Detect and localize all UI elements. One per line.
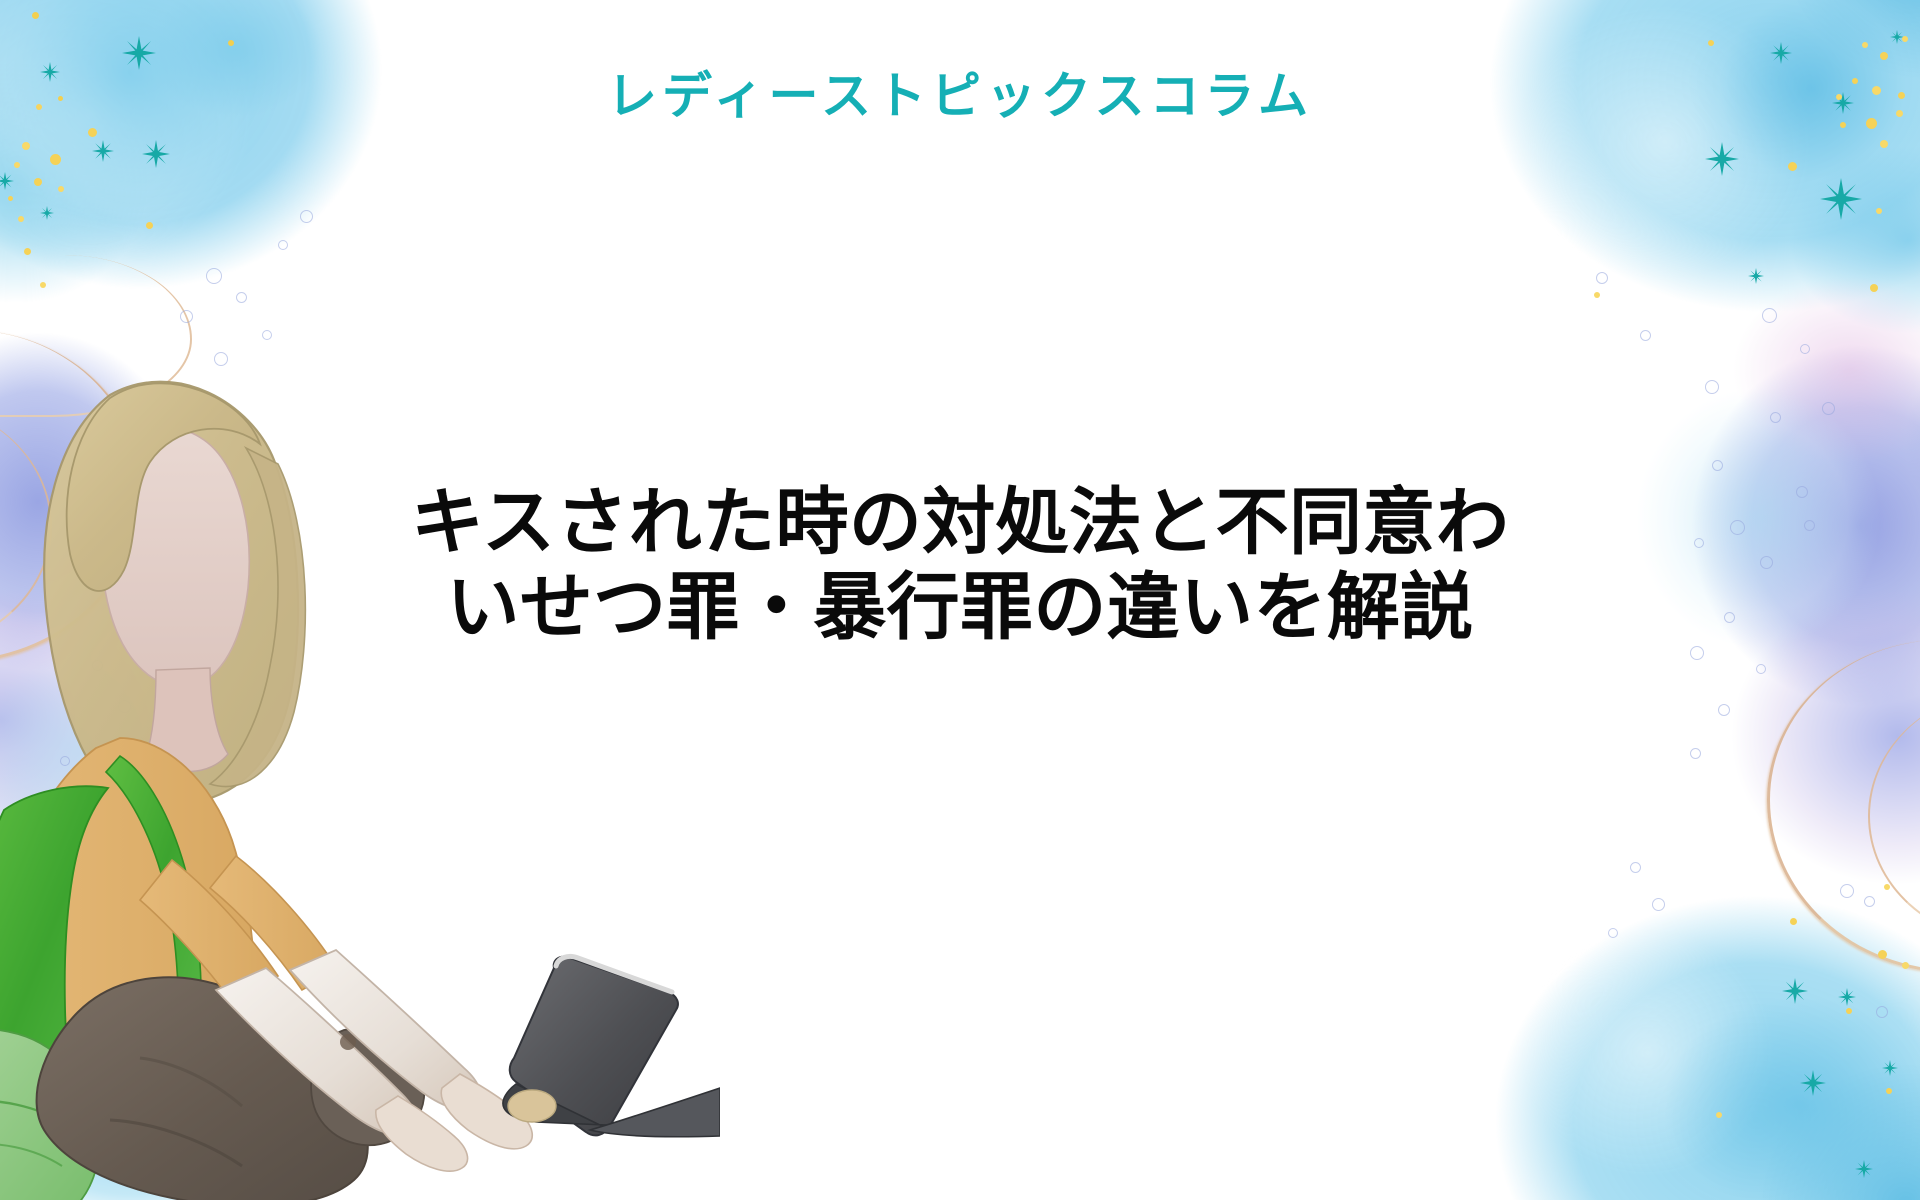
confetti-dot — [1902, 36, 1908, 42]
confetti-dot — [1880, 140, 1888, 148]
bubble-ring — [1770, 412, 1781, 423]
confetti-dot — [34, 178, 42, 186]
bubble-ring — [1756, 664, 1766, 674]
bubble-ring — [1864, 896, 1875, 907]
bubble-ring — [180, 310, 193, 323]
sparkle-star-icon — [92, 140, 114, 162]
confetti-dot — [1878, 950, 1887, 959]
bubble-ring — [236, 292, 247, 303]
bubble-ring — [1840, 884, 1854, 898]
sparkle-star-icon — [1800, 1070, 1826, 1096]
confetti-dot — [1788, 162, 1797, 171]
bubble-ring — [1690, 646, 1704, 660]
bubble-ring — [1762, 308, 1777, 323]
confetti-dot — [1880, 52, 1888, 60]
sparkle-star-icon — [1782, 978, 1808, 1004]
bubble-ring — [1705, 380, 1719, 394]
watercolor-blob-bottom-right — [1430, 840, 1920, 1200]
confetti-dot — [1876, 208, 1882, 214]
sparkle-star-icon — [122, 36, 156, 70]
confetti-dot — [1870, 284, 1878, 292]
illustration-woman-with-laptop — [0, 340, 720, 1200]
bubble-ring — [1608, 928, 1618, 938]
bubble-ring — [1804, 520, 1815, 531]
ink-blob-right-pink — [1700, 250, 1920, 490]
arm-detail-dot — [340, 1034, 356, 1050]
sparkle-star-icon — [1855, 1160, 1873, 1178]
bubble-ring — [300, 210, 313, 223]
sparkle-star-icon — [1705, 142, 1739, 176]
page-title-line-1: キスされた時の対処法と不同意わ — [300, 480, 1620, 565]
bubble-ring — [1652, 898, 1665, 911]
small-object — [508, 1090, 556, 1122]
page-title: キスされた時の対処法と不同意わ いせつ罪・暴行罪の違いを解説 — [300, 480, 1620, 651]
bubble-ring — [278, 240, 288, 250]
confetti-dot — [88, 128, 97, 137]
gold-glitter-stroke-right-1 — [1767, 640, 1920, 973]
confetti-dot — [1716, 1112, 1722, 1118]
sparkle-star-icon — [1770, 42, 1792, 64]
confetti-dot — [1886, 1088, 1892, 1094]
confetti-dot — [40, 282, 46, 288]
sparkle-star-icon — [1890, 30, 1904, 44]
bubble-ring — [1724, 612, 1735, 623]
confetti-dot — [8, 196, 13, 201]
sparkle-star-icon — [1838, 988, 1856, 1006]
confetti-dot — [58, 186, 64, 192]
sparkle-star-icon — [142, 140, 170, 168]
bubble-ring — [1630, 862, 1641, 873]
bubble-ring — [262, 330, 272, 340]
sparkle-star-icon — [0, 172, 14, 190]
confetti-dot — [22, 142, 30, 150]
ink-blob-right-periwinkle-2 — [1700, 560, 1920, 980]
confetti-dot — [24, 248, 31, 255]
page-title-line-2: いせつ罪・暴行罪の違いを解説 — [300, 565, 1620, 650]
confetti-dot — [18, 216, 24, 222]
confetti-dot — [228, 40, 234, 46]
confetti-dot — [1884, 884, 1890, 890]
ink-blob-right-periwinkle — [1650, 300, 1920, 770]
confetti-dot — [1862, 42, 1868, 48]
confetti-dot — [1594, 292, 1600, 298]
bubble-ring — [206, 268, 222, 284]
sparkle-star-icon — [1882, 1060, 1898, 1076]
watercolor-blob-top-right-3 — [1680, 120, 1920, 420]
confetti-dot — [1708, 40, 1714, 46]
ink-blob-right-pale-blue — [1610, 360, 1920, 690]
watercolor-blob-top-right-2 — [1630, 0, 1920, 270]
confetti-dot — [1790, 918, 1797, 925]
bubble-ring — [1718, 704, 1730, 716]
bubble-ring — [1800, 344, 1810, 354]
bubble-ring — [1760, 556, 1773, 569]
bubble-ring — [1876, 1006, 1888, 1018]
bubble-ring — [1712, 460, 1723, 471]
gold-glitter-stroke-right-2 — [1868, 690, 1920, 942]
watercolor-blob-top-right — [1420, 0, 1920, 370]
confetti-dot — [14, 162, 20, 168]
bubble-ring — [1822, 402, 1835, 415]
confetti-dot — [1846, 1008, 1852, 1014]
watercolor-blob-top-left — [0, 0, 450, 350]
sparkle-star-icon — [1748, 268, 1764, 284]
sparkle-star-icon — [40, 206, 54, 220]
column-category-label: レディーストピックスコラム — [0, 66, 1920, 126]
watercolor-blob-bottom-right-2 — [1630, 940, 1920, 1200]
bubble-ring — [1640, 330, 1651, 341]
bubble-ring — [1796, 486, 1808, 498]
confetti-dot — [1902, 962, 1909, 969]
watercolor-blob-top-left-2 — [0, 0, 360, 310]
bubble-ring — [1694, 538, 1704, 548]
bubble-ring — [1596, 272, 1608, 284]
bubble-ring — [1730, 520, 1745, 535]
bubble-ring — [1690, 748, 1701, 759]
confetti-dot — [32, 12, 39, 19]
confetti-dot — [146, 222, 153, 229]
thumbnail-canvas: レディーストピックスコラム キスされた時の対処法と不同意わ いせつ罪・暴行罪の違… — [0, 0, 1920, 1200]
confetti-dot — [50, 154, 61, 165]
sparkle-star-icon — [1820, 178, 1862, 220]
